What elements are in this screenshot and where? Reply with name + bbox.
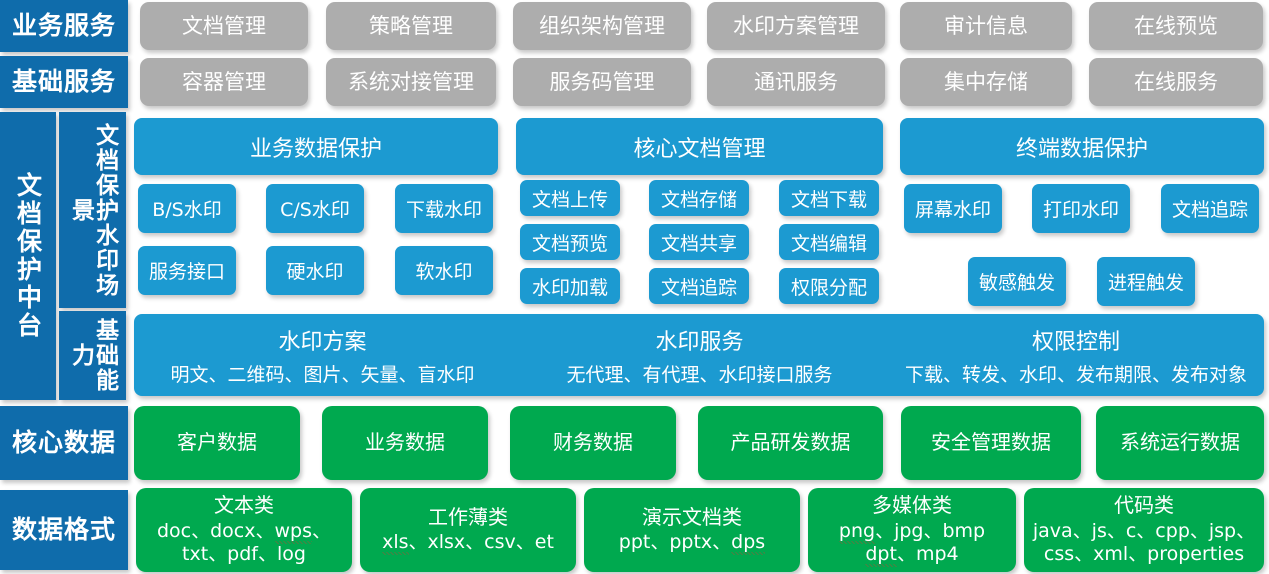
row-label-basic-service: 基础服务 xyxy=(0,56,128,108)
format-title: 多媒体类 xyxy=(872,494,952,518)
sublabel-watermark-scene: 文档保护水印场景 xyxy=(59,112,126,308)
scene-item-doc-download[interactable]: 文档下载 xyxy=(779,180,879,216)
item-label: B/S水印 xyxy=(152,195,222,222)
ext-misspelled: wps xyxy=(275,520,313,544)
item-label: 屏幕水印 xyxy=(915,195,991,222)
scene-item-hard-watermark[interactable]: 硬水印 xyxy=(266,246,364,295)
group-header: 终端数据保护 xyxy=(900,118,1264,175)
scene-group-business-data-protection: 业务数据保护 B/S水印 C/S水印 下载水印 服务接口 硬水印 软水印 xyxy=(134,118,498,308)
scene-item-service-interface[interactable]: 服务接口 xyxy=(138,246,236,295)
ext-part: 、jpg、bmp xyxy=(875,520,985,542)
sublabel-text: 文档保护水印场景 xyxy=(68,120,116,300)
chip-label: 集中存储 xyxy=(944,70,1028,95)
scene-item-cs-watermark[interactable]: C/S水印 xyxy=(266,184,364,233)
format-extensions: png、jpg、bmp dpt、mp4 xyxy=(839,520,985,566)
ext-misspelled: dpt xyxy=(865,543,897,567)
architecture-diagram: 业务服务 文档管理 策略管理 组织架构管理 水印方案管理 审计信息 在线预览 基… xyxy=(0,0,1269,574)
chip-basic-4[interactable]: 通讯服务 xyxy=(707,58,885,106)
scene-item-bs-watermark[interactable]: B/S水印 xyxy=(138,184,236,233)
core-data-4[interactable]: 产品研发数据 xyxy=(698,406,883,480)
chip-label: 容器管理 xyxy=(182,70,266,95)
chip-business-3[interactable]: 组织架构管理 xyxy=(513,2,691,50)
ext-part: doc、docx、 xyxy=(157,520,275,542)
format-title: 代码类 xyxy=(1114,494,1174,518)
core-data-label: 客户数据 xyxy=(177,431,257,455)
scene-item-process-trigger[interactable]: 进程触发 xyxy=(1097,257,1195,306)
chip-label: 策略管理 xyxy=(369,14,453,39)
item-label: 硬水印 xyxy=(286,257,343,284)
scene-item-watermark-load[interactable]: 水印加载 xyxy=(520,268,620,304)
chip-business-5[interactable]: 审计信息 xyxy=(900,2,1072,50)
scene-item-permission-assign[interactable]: 权限分配 xyxy=(779,268,879,304)
chip-basic-6[interactable]: 在线服务 xyxy=(1089,58,1263,106)
group-header-label: 终端数据保护 xyxy=(1016,131,1148,163)
scene-item-doc-share[interactable]: 文档共享 xyxy=(649,224,749,260)
format-extensions: java、js、c、cpp、jsp、 css、xml、properties xyxy=(1033,520,1255,566)
ext-part: 、 xyxy=(312,520,331,542)
chip-label: 组织架构管理 xyxy=(539,14,665,39)
capability-title: 水印服务 xyxy=(655,324,743,356)
ext-part: ppt、pptx、 xyxy=(619,531,731,553)
scene-item-doc-preview[interactable]: 文档预览 xyxy=(520,224,620,260)
format-group-code[interactable]: 代码类 java、js、c、cpp、jsp、 css、xml、propertie… xyxy=(1024,488,1264,572)
format-extensions: ppt、pptx、dps xyxy=(619,531,765,554)
scene-item-screen-watermark[interactable]: 屏幕水印 xyxy=(904,184,1002,233)
chip-label: 在线服务 xyxy=(1134,70,1218,95)
chip-business-2[interactable]: 策略管理 xyxy=(326,2,496,50)
item-label: C/S水印 xyxy=(280,195,350,222)
capability-bar: 水印方案 明文、二维码、图片、矢量、盲水印 水印服务 无代理、有代理、水印接口服… xyxy=(134,314,1264,396)
capability-sub: 无代理、有代理、水印接口服务 xyxy=(566,360,832,387)
core-data-label: 安全管理数据 xyxy=(931,431,1051,455)
scene-item-doc-tracking[interactable]: 文档追踪 xyxy=(1161,184,1259,233)
row-label-platform: 文档保护中台 xyxy=(0,112,56,400)
scene-item-sensitive-trigger[interactable]: 敏感触发 xyxy=(968,257,1066,306)
item-label: 服务接口 xyxy=(149,257,225,284)
ext-part: 、mp4 xyxy=(897,543,959,565)
core-data-label: 系统运行数据 xyxy=(1120,431,1240,455)
row-label-text: 文档保护中台 xyxy=(16,172,41,340)
row-label-text: 数据格式 xyxy=(12,515,116,545)
capability-watermark-service[interactable]: 水印服务 无代理、有代理、水印接口服务 xyxy=(511,314,888,396)
format-group-workbook[interactable]: 工作薄类 xls、xlsx、csv、et xyxy=(360,488,576,572)
ext-misspelled: xls xyxy=(382,531,408,555)
item-label: 权限分配 xyxy=(791,273,867,300)
item-label: 下载水印 xyxy=(406,195,482,222)
chip-basic-3[interactable]: 服务码管理 xyxy=(513,58,691,106)
core-data-1[interactable]: 客户数据 xyxy=(134,406,300,480)
format-group-multimedia[interactable]: 多媒体类 png、jpg、bmp dpt、mp4 xyxy=(808,488,1016,572)
scene-item-doc-edit[interactable]: 文档编辑 xyxy=(779,224,879,260)
chip-label: 通讯服务 xyxy=(754,70,838,95)
group-header: 业务数据保护 xyxy=(134,118,498,175)
item-label: 文档下载 xyxy=(791,185,867,212)
format-title: 工作薄类 xyxy=(428,506,508,530)
item-label: 文档追踪 xyxy=(1172,195,1248,222)
chip-business-6[interactable]: 在线预览 xyxy=(1089,2,1263,50)
scene-group-core-document-management: 核心文档管理 文档上传 文档存储 文档下载 文档预览 文档共享 文档编辑 水印加… xyxy=(516,118,883,308)
core-data-2[interactable]: 业务数据 xyxy=(322,406,488,480)
capability-watermark-scheme[interactable]: 水印方案 明文、二维码、图片、矢量、盲水印 xyxy=(134,314,511,396)
item-label: 软水印 xyxy=(415,257,472,284)
row-label-text: 核心数据 xyxy=(12,428,116,458)
ext-part: java、js、c、cpp、jsp、 xyxy=(1033,520,1255,542)
item-label: 打印水印 xyxy=(1043,195,1119,222)
scene-item-doc-tracking[interactable]: 文档追踪 xyxy=(649,268,749,304)
chip-business-1[interactable]: 文档管理 xyxy=(140,2,308,50)
sublabel-text: 基础能力 xyxy=(68,316,116,396)
core-data-6[interactable]: 系统运行数据 xyxy=(1096,406,1264,480)
core-data-label: 产品研发数据 xyxy=(731,431,851,455)
format-extensions: xls、xlsx、csv、et xyxy=(382,531,554,554)
ext-part: css、xml、properties xyxy=(1044,543,1244,565)
ext-misspelled: png xyxy=(839,520,875,544)
chip-label: 服务码管理 xyxy=(550,70,655,95)
ext-part: 、xlsx、csv、et xyxy=(409,531,554,553)
chip-label: 在线预览 xyxy=(1134,14,1218,39)
capability-sub: 明文、二维码、图片、矢量、盲水印 xyxy=(170,360,474,387)
chip-basic-5[interactable]: 集中存储 xyxy=(900,58,1072,106)
chip-label: 水印方案管理 xyxy=(733,14,859,39)
scene-item-print-watermark[interactable]: 打印水印 xyxy=(1032,184,1130,233)
chip-label: 文档管理 xyxy=(182,14,266,39)
format-group-text[interactable]: 文本类 doc、docx、wps、 txt、pdf、log xyxy=(136,488,352,572)
core-data-label: 财务数据 xyxy=(553,431,633,455)
item-label: 文档上传 xyxy=(532,185,608,212)
core-data-5[interactable]: 安全管理数据 xyxy=(901,406,1081,480)
format-title: 演示文档类 xyxy=(642,506,742,530)
scene-item-download-watermark[interactable]: 下载水印 xyxy=(395,184,493,233)
scene-item-soft-watermark[interactable]: 软水印 xyxy=(395,246,493,295)
group-header-label: 业务数据保护 xyxy=(250,131,382,163)
group-header: 核心文档管理 xyxy=(516,118,883,175)
row-label-business-service: 业务服务 xyxy=(0,0,128,52)
ext-misspelled: dps xyxy=(731,531,765,555)
item-label: 文档共享 xyxy=(661,229,737,256)
ext-part: txt、pdf、log xyxy=(182,543,306,565)
item-label: 水印加载 xyxy=(532,273,608,300)
item-label: 进程触发 xyxy=(1108,268,1184,295)
capability-sub: 下载、转发、水印、发布期限、发布对象 xyxy=(905,360,1247,387)
item-label: 文档预览 xyxy=(532,229,608,256)
chip-label: 审计信息 xyxy=(944,14,1028,39)
chip-basic-2[interactable]: 系统对接管理 xyxy=(326,58,496,106)
format-title: 文本类 xyxy=(214,494,274,518)
chip-basic-1[interactable]: 容器管理 xyxy=(140,58,308,106)
row-label-data-format: 数据格式 xyxy=(0,490,128,570)
row-label-text: 业务服务 xyxy=(12,11,116,41)
group-header-label: 核心文档管理 xyxy=(633,131,765,163)
capability-permission-control[interactable]: 权限控制 下载、转发、水印、发布期限、发布对象 xyxy=(888,314,1264,396)
scene-item-doc-storage[interactable]: 文档存储 xyxy=(649,180,749,216)
core-data-label: 业务数据 xyxy=(365,431,445,455)
core-data-3[interactable]: 财务数据 xyxy=(510,406,676,480)
row-label-text: 基础服务 xyxy=(12,67,116,97)
scene-item-doc-upload[interactable]: 文档上传 xyxy=(520,180,620,216)
format-group-presentation[interactable]: 演示文档类 ppt、pptx、dps xyxy=(584,488,800,572)
sublabel-basic-capability: 基础能力 xyxy=(59,311,126,400)
scene-group-endpoint-data-protection: 终端数据保护 屏幕水印 打印水印 文档追踪 敏感触发 进程触发 xyxy=(900,118,1264,308)
capability-title: 权限控制 xyxy=(1032,324,1120,356)
item-label: 敏感触发 xyxy=(979,268,1055,295)
row-label-core-data: 核心数据 xyxy=(0,406,128,480)
item-label: 文档编辑 xyxy=(791,229,867,256)
chip-label: 系统对接管理 xyxy=(348,70,474,95)
capability-title: 水印方案 xyxy=(278,324,366,356)
item-label: 文档追踪 xyxy=(661,273,737,300)
item-label: 文档存储 xyxy=(661,185,737,212)
format-extensions: doc、docx、wps、 txt、pdf、log xyxy=(157,520,331,566)
chip-business-4[interactable]: 水印方案管理 xyxy=(707,2,885,50)
